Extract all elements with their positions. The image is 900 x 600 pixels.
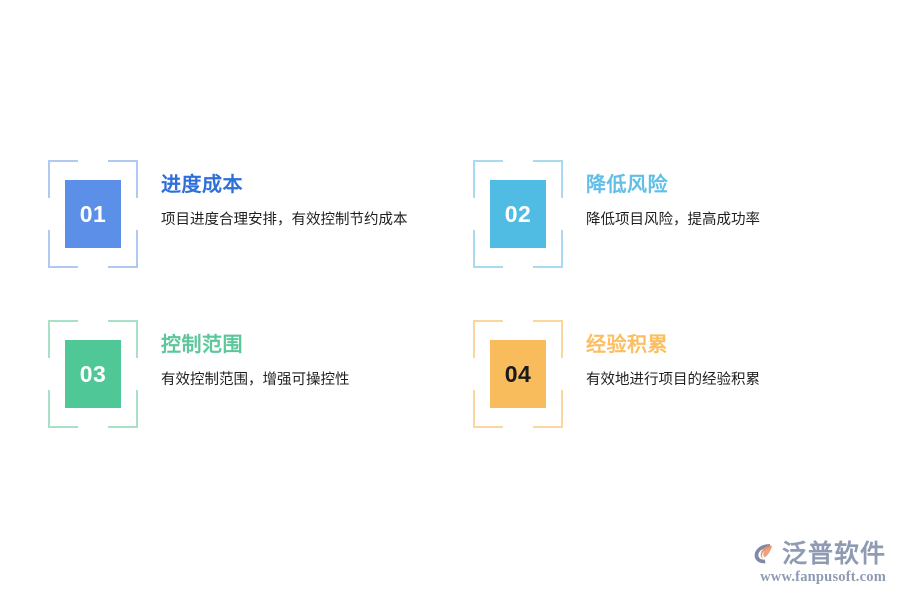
badge-number-label: 03 — [80, 363, 107, 386]
badge-number-label: 04 — [505, 363, 532, 386]
brand-logo-row: 泛普软件 — [749, 538, 886, 568]
number-badge-02: 02 — [490, 180, 546, 248]
feature-title-04: 经验积累 — [586, 333, 852, 357]
feature-grid: 01 进度成本 项目进度合理安排，有效控制节约成本 02 — [48, 160, 852, 480]
feature-board: 01 进度成本 项目进度合理安排，有效控制节约成本 02 — [0, 0, 900, 600]
feature-description-02: 降低项目风险，提高成功率 — [586, 208, 852, 233]
feature-item-experience-accumulation[interactable]: 04 经验积累 有效地进行项目的经验积累 — [473, 320, 852, 480]
feature-copy-01: 进度成本 项目进度合理安排，有效控制节约成本 — [138, 160, 473, 233]
feature-item-control-scope[interactable]: 03 控制范围 有效控制范围，增强可操控性 — [48, 320, 473, 480]
badge-wrap-04: 04 — [473, 320, 563, 428]
feature-copy-02: 降低风险 降低项目风险，提高成功率 — [563, 160, 852, 233]
feature-title-01: 进度成本 — [161, 173, 473, 197]
brand-name-label: 泛普软件 — [782, 541, 886, 566]
badge-wrap-01: 01 — [48, 160, 138, 268]
fanpu-logo-icon — [749, 538, 779, 568]
brand-watermark: 泛普软件 www.fanpusoft.com — [749, 538, 886, 586]
feature-description-03: 有效控制范围，增强可操控性 — [161, 368, 461, 393]
badge-number-label: 01 — [80, 203, 107, 226]
number-badge-04: 04 — [490, 340, 546, 408]
feature-title-02: 降低风险 — [586, 173, 852, 197]
feature-copy-04: 经验积累 有效地进行项目的经验积累 — [563, 320, 852, 393]
feature-description-04: 有效地进行项目的经验积累 — [586, 368, 852, 393]
feature-item-schedule-cost[interactable]: 01 进度成本 项目进度合理安排，有效控制节约成本 — [48, 160, 473, 320]
number-badge-03: 03 — [65, 340, 121, 408]
feature-description-01: 项目进度合理安排，有效控制节约成本 — [161, 208, 461, 233]
badge-number-label: 02 — [505, 203, 532, 226]
brand-url-label: www.fanpusoft.com — [760, 569, 886, 586]
feature-title-03: 控制范围 — [161, 333, 473, 357]
badge-wrap-02: 02 — [473, 160, 563, 268]
badge-wrap-03: 03 — [48, 320, 138, 428]
number-badge-01: 01 — [65, 180, 121, 248]
feature-item-reduce-risk[interactable]: 02 降低风险 降低项目风险，提高成功率 — [473, 160, 852, 320]
feature-copy-03: 控制范围 有效控制范围，增强可操控性 — [138, 320, 473, 393]
